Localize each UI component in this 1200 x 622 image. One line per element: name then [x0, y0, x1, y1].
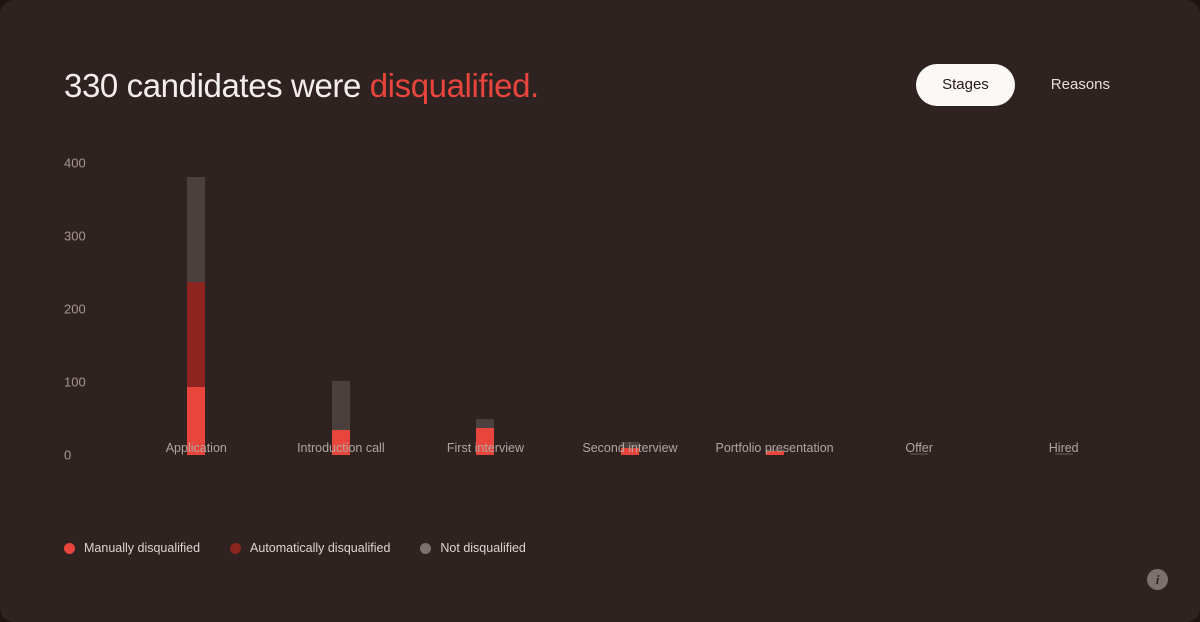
bar-column[interactable] — [413, 163, 558, 455]
bar-stack[interactable] — [187, 177, 205, 455]
page-title: 330 candidates were disqualified. — [64, 64, 539, 108]
y-axis-tick: 0 — [64, 448, 124, 463]
y-axis-tick: 200 — [64, 302, 124, 317]
legend-item[interactable]: Not disqualified — [420, 538, 525, 558]
y-axis-tick: 300 — [64, 229, 124, 244]
bar-segment[interactable] — [187, 282, 205, 387]
legend-swatch-icon — [230, 543, 241, 554]
chart-legend: Manually disqualifiedAutomatically disqu… — [64, 538, 526, 558]
plot-area — [124, 163, 1136, 455]
x-axis-label: Portfolio presentation — [702, 441, 847, 455]
legend-label: Automatically disqualified — [250, 541, 390, 555]
bar-column[interactable] — [269, 163, 414, 455]
tab-reasons[interactable]: Reasons — [1025, 64, 1136, 106]
x-axis-label: Introduction call — [269, 441, 414, 455]
y-axis-tick: 400 — [64, 156, 124, 171]
bar-segment[interactable] — [476, 419, 494, 428]
tab-stages[interactable]: Stages — [916, 64, 1015, 106]
disqualified-candidates-dashboard: 330 candidates were disqualified. Stages… — [0, 0, 1200, 622]
legend-swatch-icon — [420, 543, 431, 554]
info-icon[interactable]: i — [1147, 569, 1168, 590]
bar-column[interactable] — [991, 163, 1136, 455]
bar-column[interactable] — [702, 163, 847, 455]
bar-column[interactable] — [124, 163, 269, 455]
legend-item[interactable]: Automatically disqualified — [230, 538, 390, 558]
dashboard-header: 330 candidates were disqualified. Stages… — [0, 0, 1200, 140]
x-axis-label: Offer — [847, 441, 992, 455]
x-axis-label: First interview — [413, 441, 558, 455]
bar-segment[interactable] — [332, 381, 350, 431]
legend-item[interactable]: Manually disqualified — [64, 538, 200, 558]
legend-label: Not disqualified — [440, 541, 525, 555]
legend-label: Manually disqualified — [84, 541, 200, 555]
legend-swatch-icon — [64, 543, 75, 554]
x-axis-label: Second interview — [558, 441, 703, 455]
y-axis-tick: 100 — [64, 375, 124, 390]
page-title-accent: disqualified. — [370, 67, 539, 104]
bar-segment[interactable] — [187, 177, 205, 282]
bar-column[interactable] — [558, 163, 703, 455]
stacked-bar-chart: 4003002001000 ApplicationIntroduction ca… — [0, 140, 1200, 510]
x-axis-label: Application — [124, 441, 269, 455]
view-toggle-group: Stages Reasons — [916, 64, 1136, 106]
x-axis-label: Hired — [991, 441, 1136, 455]
bar-column[interactable] — [847, 163, 992, 455]
page-title-prefix: 330 candidates were — [64, 67, 370, 104]
